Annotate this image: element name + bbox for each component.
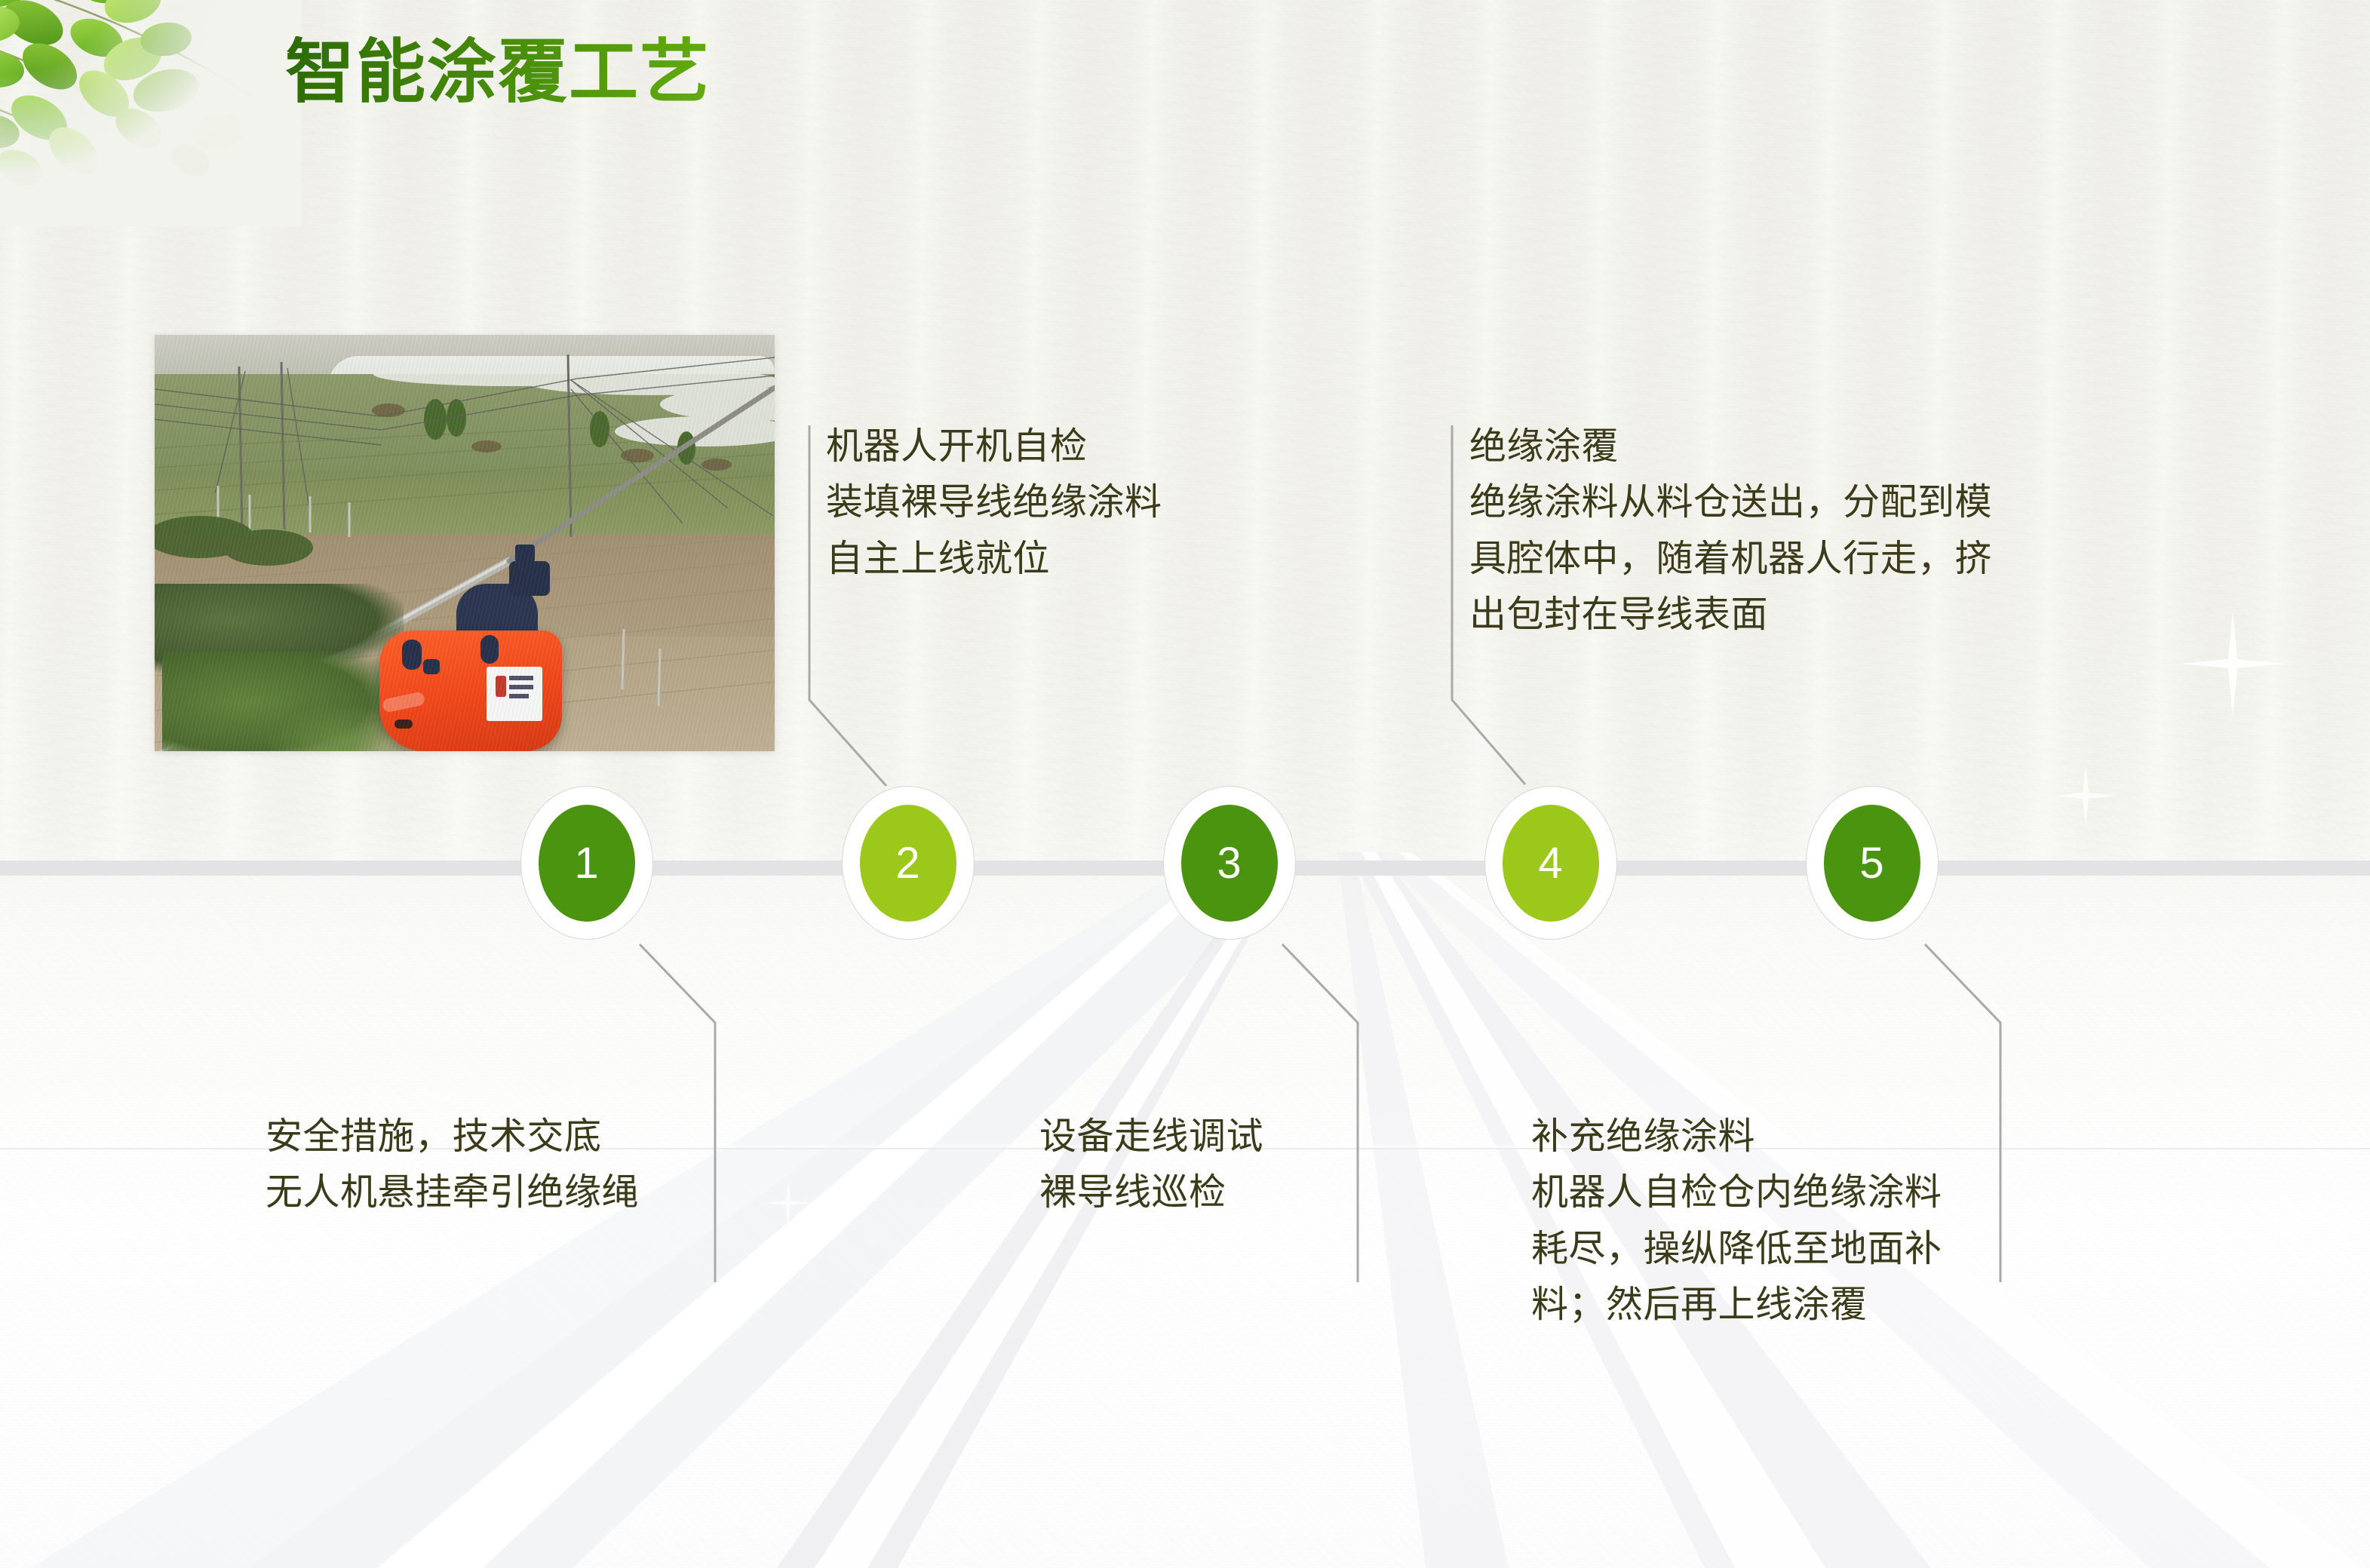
step-circle-3[interactable]: 3 xyxy=(1163,786,1296,940)
robot-photo xyxy=(155,335,775,751)
step-circle-2[interactable]: 2 xyxy=(842,786,975,940)
leaves-decoration xyxy=(0,0,294,219)
step-text-1: 安全措施，技术交底 无人机悬挂牵引绝缘绳 xyxy=(266,1109,718,1221)
step-circle-5[interactable]: 5 xyxy=(1806,786,1939,940)
step-number-1: 1 xyxy=(574,838,599,888)
step-text-4: 绝缘涂覆 绝缘涂料从料仓送出，分配到模 具腔体中，随着机器人行走，挤 出包封在导… xyxy=(1469,419,2103,643)
step-number-3: 3 xyxy=(1217,838,1242,888)
step-number-4: 4 xyxy=(1538,838,1563,888)
step-circle-1[interactable]: 1 xyxy=(520,786,653,940)
page-title: 智能涂覆工艺 xyxy=(285,36,711,109)
step-circle-4[interactable]: 4 xyxy=(1484,786,1617,940)
step-disc-4: 4 xyxy=(1503,805,1599,922)
step-number-5: 5 xyxy=(1859,838,1884,888)
step-disc-3: 3 xyxy=(1181,805,1278,922)
step-disc-5: 5 xyxy=(1824,805,1920,922)
step-number-2: 2 xyxy=(895,838,920,888)
step-text-2: 机器人开机自检 装填裸导线绝缘涂料 自主上线就位 xyxy=(826,419,1248,587)
slide-canvas: 智能涂覆工艺 xyxy=(0,0,2370,1568)
step-disc-1: 1 xyxy=(539,805,635,922)
step-text-3: 设备走线调试 裸导线巡检 xyxy=(1039,1109,1356,1221)
step-disc-2: 2 xyxy=(860,805,956,922)
step-text-5: 补充绝缘涂料 机器人自检仓内绝缘涂料 耗尽，操纵降低至地面补 料；然后再上线涂覆 xyxy=(1531,1109,2059,1333)
